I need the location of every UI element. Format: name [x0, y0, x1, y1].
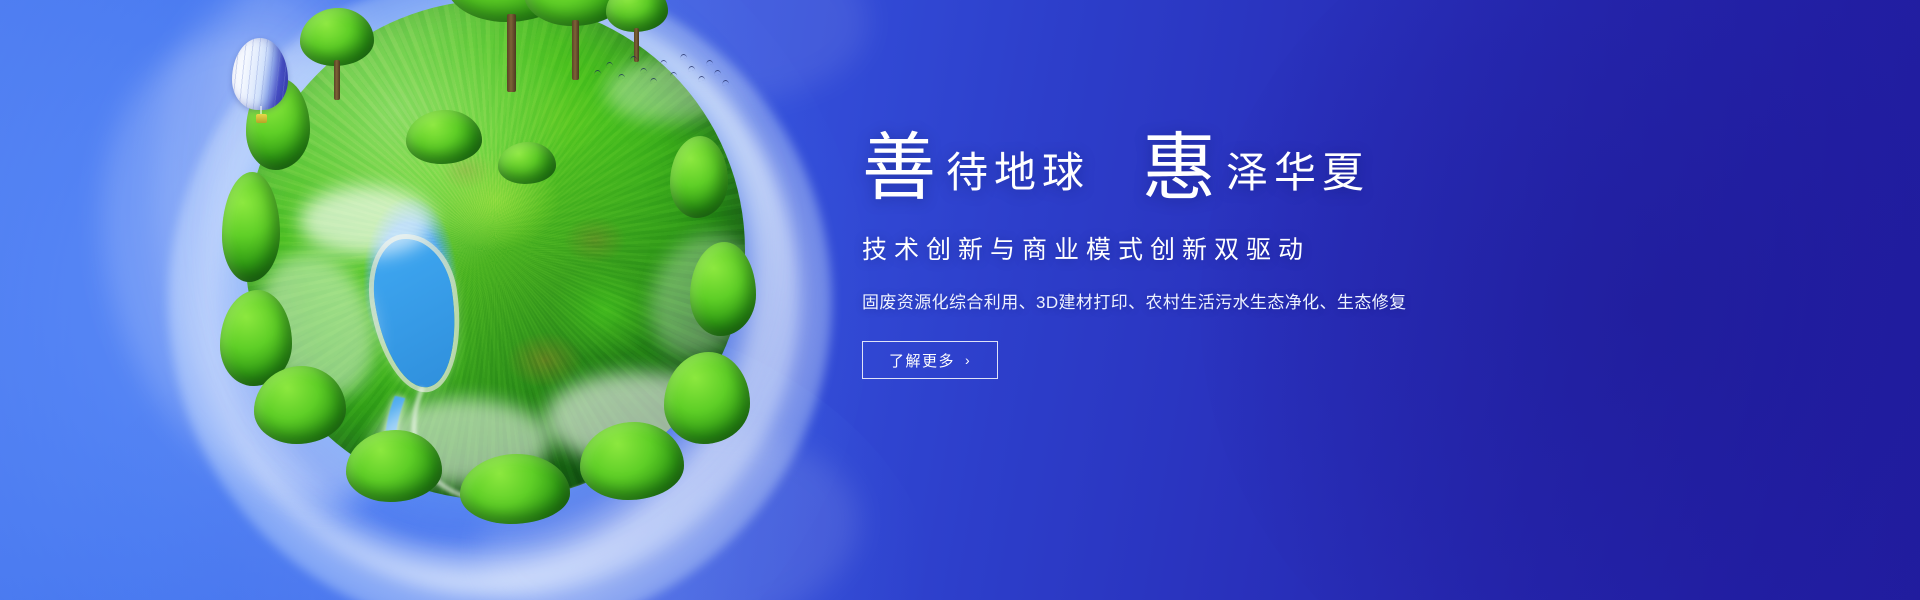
- banner-content: 善 待地球 惠 泽华夏 技术创新与商业模式创新双驱动 固废资源化综合利用、3D建…: [862, 126, 1762, 379]
- bird-flock: [592, 48, 732, 94]
- cloud-icon: [545, 372, 735, 464]
- bird-icon: [606, 62, 614, 68]
- bird-icon: [618, 74, 626, 80]
- cloud-icon: [245, 236, 395, 415]
- cloud-icon: [375, 398, 550, 484]
- bird-icon: [706, 60, 714, 66]
- cloud-swirl-icon: [45, 0, 504, 539]
- headline-part1-primary: 善: [862, 132, 936, 206]
- bird-icon: [640, 68, 648, 74]
- bird-icon: [660, 60, 668, 66]
- river-highlight: [364, 183, 745, 500]
- balloon-ribs: [232, 38, 288, 110]
- balloon-rope: [260, 106, 262, 116]
- cloud-swirl-icon: [438, 0, 882, 128]
- cloud-swirl-icon: [117, 0, 463, 529]
- banner-description: 固废资源化综合利用、3D建材打印、农村生活污水生态净化、生态修复: [862, 288, 1762, 313]
- bird-icon: [688, 66, 696, 72]
- banner-subtitle: 技术创新与商业模式创新双驱动: [862, 230, 1762, 266]
- globe-illustration: [150, 0, 850, 600]
- headline-part1-secondary: 待地球: [946, 153, 1090, 195]
- cloud-swirl-icon: [191, 0, 430, 516]
- cloud-icon: [605, 60, 725, 122]
- grass-texture: [245, 0, 745, 500]
- globe-atmosphere-halo: [168, 0, 832, 600]
- globe-sphere: [245, 0, 745, 500]
- hot-air-balloon-icon: [232, 38, 288, 110]
- lake-shape: [366, 233, 467, 393]
- bird-icon: [698, 76, 706, 82]
- bird-icon: [630, 56, 638, 62]
- balloon-basket: [256, 114, 267, 123]
- learn-more-button[interactable]: 了解更多 ›: [862, 341, 998, 379]
- cloud-icon: [299, 186, 434, 256]
- cloud-icon: [631, 218, 745, 374]
- balloon-envelope: [232, 38, 288, 110]
- grass-texture-2: [245, 0, 745, 500]
- bird-icon: [650, 78, 658, 84]
- chevron-right-icon: ›: [965, 353, 971, 367]
- background-glow-left: [0, 0, 870, 600]
- bird-icon: [594, 70, 602, 76]
- bird-icon: [714, 70, 722, 76]
- background-glow-bottom: [40, 300, 940, 600]
- headline: 善 待地球 惠 泽华夏: [862, 126, 1762, 200]
- hero-banner: 善 待地球 惠 泽华夏 技术创新与商业模式创新双驱动 固废资源化综合利用、3D建…: [0, 0, 1920, 600]
- cloud-swirl-icon: [470, 411, 870, 600]
- globe-atmosphere-inner: [198, 0, 798, 594]
- bird-icon: [670, 72, 678, 78]
- bird-icon: [722, 80, 730, 86]
- bird-icon: [680, 54, 688, 60]
- river-shape: [330, 157, 745, 500]
- headline-part2-secondary: 泽华夏: [1226, 153, 1370, 195]
- learn-more-label: 了解更多: [889, 350, 955, 371]
- headline-part2-primary: 惠: [1142, 132, 1216, 206]
